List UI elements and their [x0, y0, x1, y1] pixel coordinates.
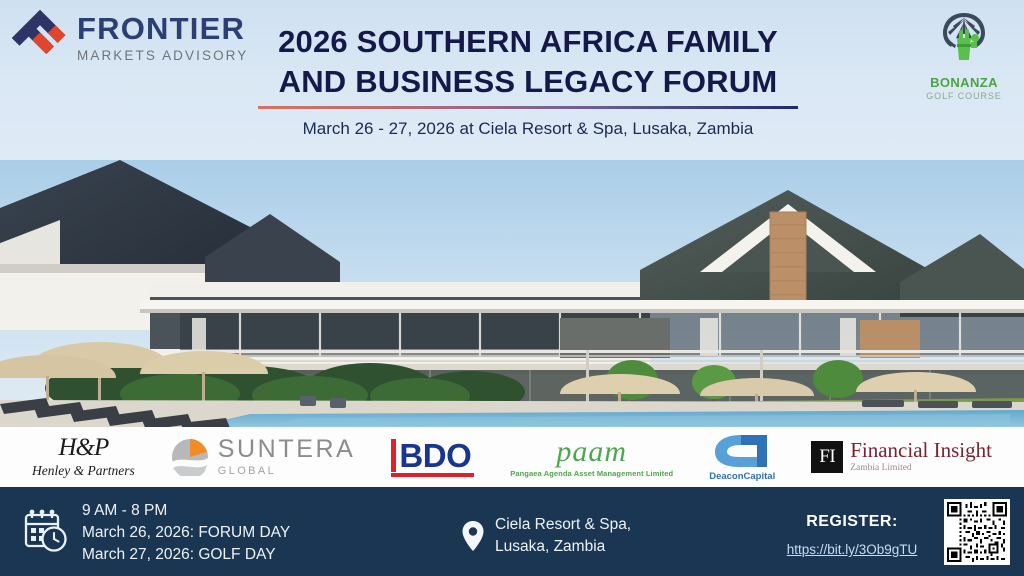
financial-insight-monogram-box: FI [811, 441, 843, 473]
financial-insight-initials: FI [819, 446, 835, 468]
sponsor-logo-strip: H&P Henley & Partners SUNTERA GLOBAL BDO [0, 427, 1024, 487]
henley-partners-name: Henley & Partners [32, 463, 135, 479]
location-pin-icon [462, 521, 484, 551]
brand-tagline: MARKETS ADVISORY [77, 49, 248, 63]
footer-register-block: REGISTER: https://bit.ly/3Ob9gTU [772, 513, 932, 557]
bonanza-golf-course-logo: BONANZA GOLF COURSE [918, 8, 1010, 108]
frontier-wordmark: FRONTIER MARKETS ADVISORY [77, 13, 248, 63]
event-banner: FRONTIER MARKETS ADVISORY 2026 SOUTHERN … [0, 0, 1024, 576]
sponsor-suntera-global[interactable]: SUNTERA GLOBAL [171, 437, 356, 477]
frontier-f-diamond-icon [12, 10, 68, 66]
schedule-line-golf-day: March 27, 2026: GOLF DAY [82, 544, 290, 566]
event-title-line-1: 2026 SOUTHERN AFRICA FAMILY [248, 22, 808, 62]
schedule-text: 9 AM - 8 PM March 26, 2026: FORUM DAY Ma… [82, 500, 290, 566]
suntera-sub: GLOBAL [218, 466, 356, 477]
register-url-link[interactable]: https://bit.ly/3Ob9gTU [772, 542, 932, 557]
event-subtitle: March 26 - 27, 2026 at Ciela Resort & Sp… [248, 119, 808, 139]
qr-code-icon[interactable] [944, 499, 1010, 565]
bonanza-sub: GOLF COURSE [926, 91, 1001, 101]
sponsor-financial-insight[interactable]: FI Financial Insight Zambia Limited [811, 440, 992, 474]
banner-header: FRONTIER MARKETS ADVISORY 2026 SOUTHERN … [0, 0, 1024, 160]
event-title-block: 2026 SOUTHERN AFRICA FAMILY AND BUSINESS… [248, 22, 808, 139]
resort-hero-photo [0, 152, 1024, 430]
henley-partners-monogram: H&P [58, 435, 108, 460]
schedule-line-forum-day: March 26, 2026: FORUM DAY [82, 522, 290, 544]
bdo-left-accent-bar [391, 439, 396, 472]
frontier-markets-advisory-logo: FRONTIER MARKETS ADVISORY [12, 10, 248, 66]
suntera-name: SUNTERA [218, 437, 356, 462]
deacon-capital-d-icon [711, 433, 773, 469]
sponsor-bdo[interactable]: BDO [391, 438, 474, 477]
venue-line-2: Lusaka, Zambia [495, 536, 631, 558]
sponsor-henley-partners[interactable]: H&P Henley & Partners [32, 435, 135, 479]
venue-text: Ciela Resort & Spa, Lusaka, Zambia [495, 514, 631, 558]
footer-venue-block: Ciela Resort & Spa, Lusaka, Zambia [462, 514, 631, 558]
financial-insight-wordmark: Financial Insight Zambia Limited [850, 440, 992, 474]
paam-wordmark: paam [556, 437, 627, 467]
schedule-line-hours: 9 AM - 8 PM [82, 500, 290, 522]
venue-line-1: Ciela Resort & Spa, [495, 514, 631, 536]
paam-full-name: Pangaea Agenda Asset Management Limited [510, 469, 673, 478]
calendar-clock-icon [22, 507, 69, 554]
title-divider [258, 106, 798, 109]
bdo-underline-bar [391, 473, 474, 477]
sponsor-deacon-capital[interactable]: DeaconCapital [709, 433, 775, 482]
deacon-capital-name: DeaconCapital [709, 471, 775, 482]
suntera-wordmark: SUNTERA GLOBAL [218, 437, 356, 477]
suntera-globe-icon [171, 438, 209, 476]
event-title-line-2: AND BUSINESS LEGACY FORUM [248, 62, 808, 102]
financial-insight-sub: Zambia Limited [850, 464, 992, 474]
sponsor-paam[interactable]: paam Pangaea Agenda Asset Management Lim… [510, 437, 673, 478]
brand-name: FRONTIER [77, 13, 248, 44]
tree-golf-bag-circle-icon [931, 8, 997, 74]
footer-schedule-block: 9 AM - 8 PM March 26, 2026: FORUM DAY Ma… [22, 500, 290, 566]
financial-insight-name: Financial Insight [850, 440, 992, 461]
banner-footer: 9 AM - 8 PM March 26, 2026: FORUM DAY Ma… [0, 487, 1024, 576]
register-label: REGISTER: [806, 513, 898, 530]
bdo-name: BDO [399, 439, 471, 472]
bonanza-name: BONANZA [930, 75, 998, 90]
